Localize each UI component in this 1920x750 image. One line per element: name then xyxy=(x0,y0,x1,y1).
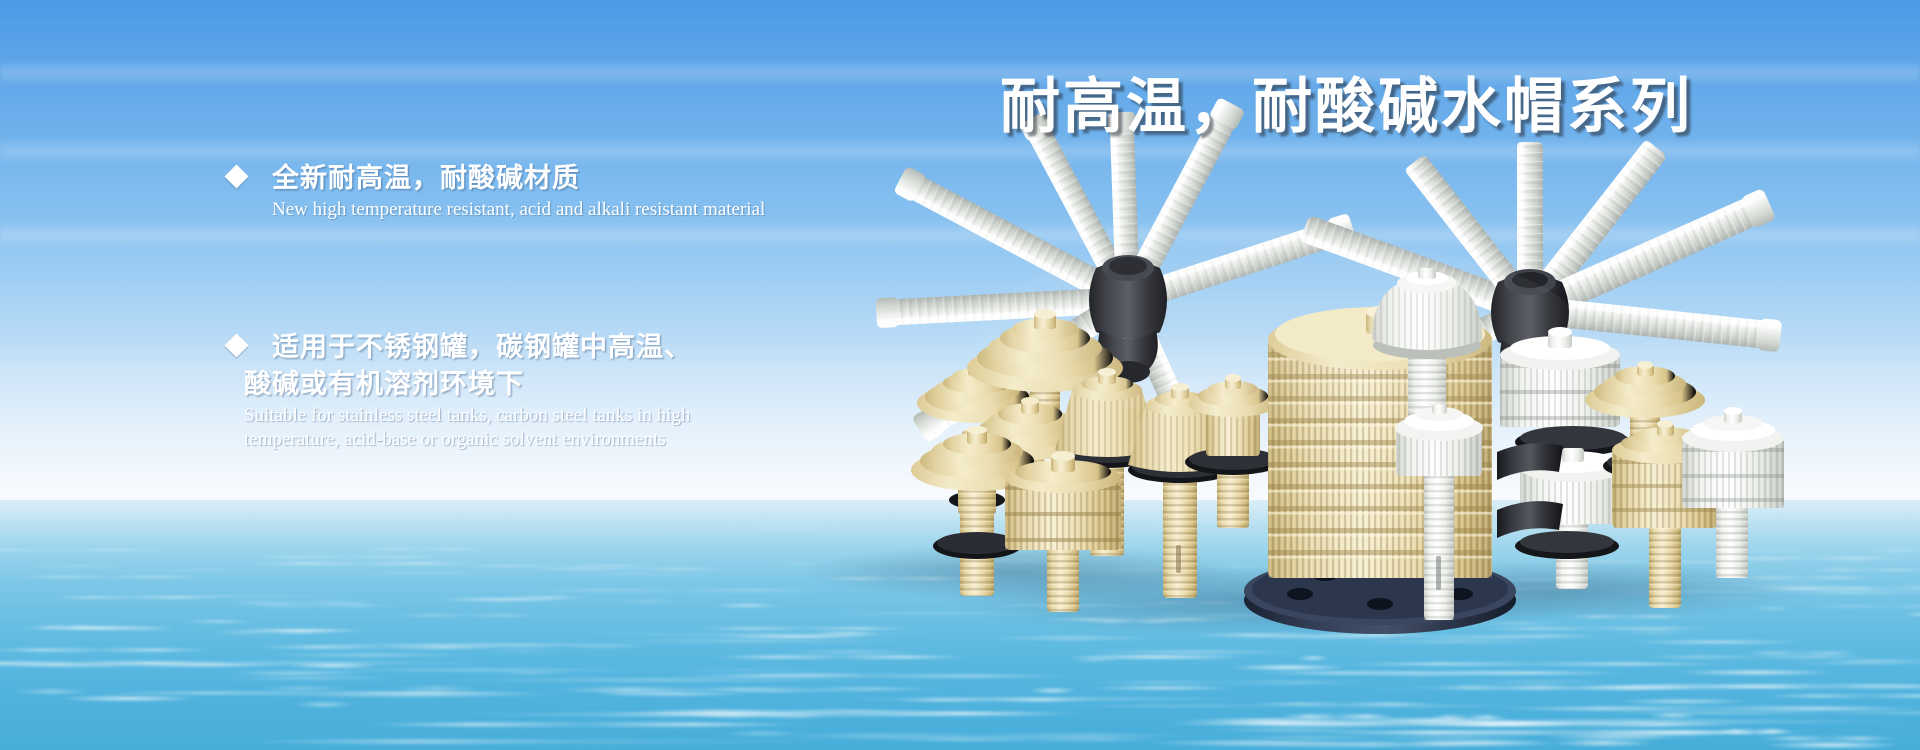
feature-bullet-1: 全新耐高温，耐酸碱材质 New high temperature resista… xyxy=(228,160,1068,221)
page-title: 耐高温，耐酸碱水帽系列 xyxy=(1000,58,1693,145)
diamond-marker-icon xyxy=(224,333,248,357)
bullet-2-en-line1: Suitable for stainless steel tanks, carb… xyxy=(244,404,1068,427)
bullet-2-cn-line2: 酸碱或有机溶剂环境下 xyxy=(244,366,1068,403)
bullet-1-cn-text: 全新耐高温，耐酸碱材质 xyxy=(272,160,1068,197)
diamond-marker-icon xyxy=(224,164,248,188)
bullet-2-cn-line1: 适用于不锈钢罐，碳钢罐中高温、 xyxy=(272,329,1068,366)
bullet-2-en-line2: temperature, acid-base or organic solven… xyxy=(244,428,1068,451)
feature-bullet-2: 适用于不锈钢罐，碳钢罐中高温、 酸碱或有机溶剂环境下 Suitable for … xyxy=(228,329,1068,451)
bullet-1-en-text: New high temperature resistant, acid and… xyxy=(272,198,1068,221)
black-seal-disc xyxy=(1515,531,1619,559)
white-slotted-nozzle xyxy=(1682,407,1784,578)
promo-banner: 耐高温，耐酸碱水帽系列 全新耐高温，耐酸碱材质 New high tempera… xyxy=(0,0,1920,750)
feature-bullet-list: 全新耐高温，耐酸碱材质 New high temperature resista… xyxy=(228,160,1068,451)
